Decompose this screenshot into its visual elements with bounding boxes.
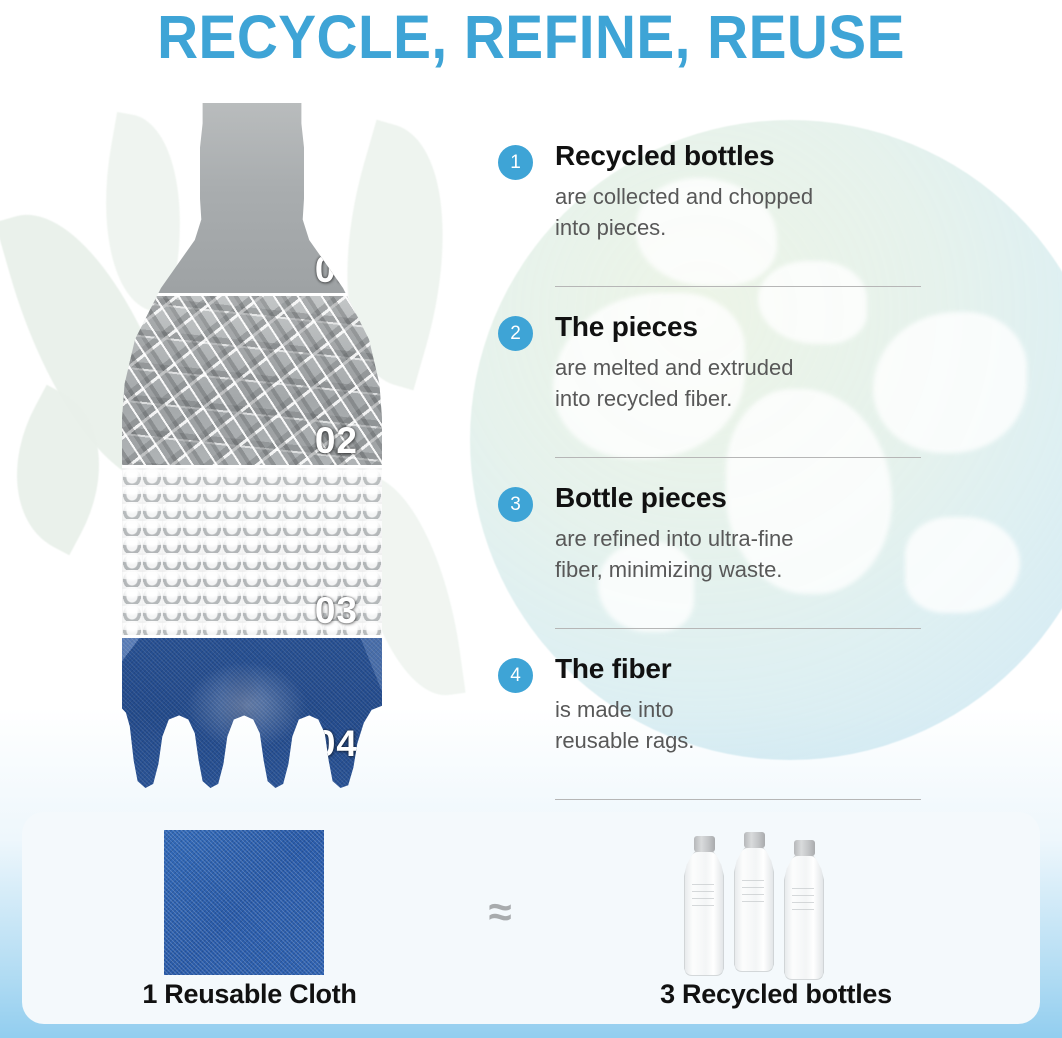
step-description: is made into reusable rags. — [555, 694, 928, 756]
process-step: 2 The pieces are melted and extruded int… — [498, 309, 928, 480]
process-steps-list: 1 Recycled bottles are collected and cho… — [498, 138, 928, 822]
step-number-badge: 2 — [498, 316, 533, 351]
process-step: 4 The fiber is made into reusable rags. — [498, 651, 928, 822]
bottle-ribs — [792, 888, 814, 912]
step-title: Recycled bottles — [555, 138, 928, 174]
process-step: 1 Recycled bottles are collected and cho… — [498, 138, 928, 309]
bottle-segment-03: 03 — [122, 465, 382, 638]
step-number-badge: 1 — [498, 145, 533, 180]
step-description: are melted and extruded into recycled fi… — [555, 352, 928, 414]
right-caption: 3 Recycled bottles — [512, 979, 1040, 1010]
equivalence-panel: 1 Reusable Cloth ≈ — [22, 812, 1040, 1024]
plastic-bottle-icon — [682, 836, 726, 976]
plastic-bottle-icon — [782, 840, 826, 980]
step-divider — [555, 286, 921, 287]
step-divider — [555, 799, 921, 800]
bottle-segment-04: 04 — [122, 635, 382, 788]
plastic-bottle-icon — [732, 832, 776, 972]
leaf-watermark — [0, 385, 135, 556]
bottle-cap — [794, 840, 815, 856]
bottle-ribs — [692, 884, 714, 908]
infographic-page: RECYCLE, REFINE, REUSE 01 02 03 04 1 Rec… — [0, 0, 1062, 1038]
bottle-body — [784, 855, 824, 980]
segment-label: 04 — [315, 723, 358, 765]
step-divider — [555, 628, 921, 629]
step-title: The pieces — [555, 309, 928, 345]
equivalence-left: 1 Reusable Cloth — [22, 812, 477, 1024]
blue-cloth-swatch-icon — [164, 830, 324, 975]
bottle-segment-01: 01 — [122, 103, 382, 293]
three-plastic-bottles-icon — [682, 822, 852, 982]
process-step: 3 Bottle pieces are refined into ultra-f… — [498, 480, 928, 651]
step-number-badge: 3 — [498, 487, 533, 522]
bottle-body — [734, 847, 774, 972]
recycling-bottle-graphic: 01 02 03 04 — [122, 103, 382, 788]
bottle-silhouette: 01 02 03 04 — [122, 103, 382, 788]
segment-label: 01 — [315, 249, 358, 291]
left-caption: 1 Reusable Cloth — [22, 979, 477, 1010]
bottle-cap — [744, 832, 765, 848]
bottle-ribs — [742, 880, 764, 904]
step-body: The pieces are melted and extruded into … — [555, 309, 928, 414]
segment-label: 02 — [315, 420, 358, 462]
bottle-segment-02: 02 — [122, 293, 382, 468]
step-title: The fiber — [555, 651, 928, 687]
step-body: Bottle pieces are refined into ultra-fin… — [555, 480, 928, 585]
step-body: The fiber is made into reusable rags. — [555, 651, 928, 756]
step-title: Bottle pieces — [555, 480, 928, 516]
page-title: RECYCLE, REFINE, REUSE — [37, 2, 1025, 72]
step-description: are refined into ultra-fine fiber, minim… — [555, 523, 928, 585]
equivalence-right: 3 Recycled bottles — [512, 812, 1040, 1024]
step-body: Recycled bottles are collected and chopp… — [555, 138, 928, 243]
step-description: are collected and chopped into pieces. — [555, 181, 928, 243]
bottle-cap — [694, 836, 715, 852]
segment-label: 03 — [315, 590, 358, 632]
step-divider — [555, 457, 921, 458]
step-number-badge: 4 — [498, 658, 533, 693]
bottle-body — [684, 851, 724, 976]
